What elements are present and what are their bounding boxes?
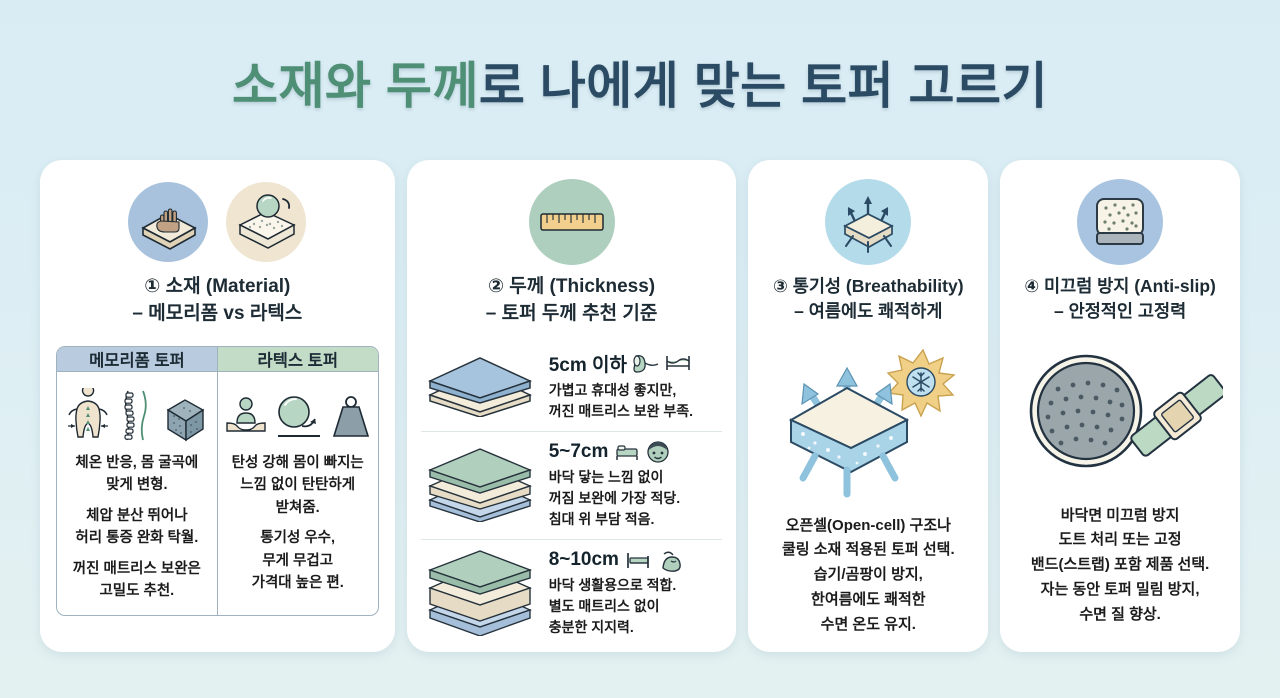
memoryfoam-para-1: 체온 반응, 몸 굴곡에 맞게 변형. — [73, 452, 201, 497]
thickness-desc-5to7cm: 바닥 닿는 느낌 없이 꺼짐 보완에 가장 적당. 침대 위 부담 적음. — [549, 467, 723, 530]
card-thickness-heading: ② 두께 (Thickness) – 토퍼 두께 추천 기준 — [407, 268, 737, 328]
spine-alignment-icon — [116, 388, 156, 442]
dotted-mattress-icon — [1077, 179, 1163, 265]
card-antislip[interactable]: ④ 미끄럼 방지 (Anti-slip) – 안정적인 고정력 — [1000, 160, 1240, 652]
body-contour-icon — [66, 388, 110, 442]
flexed-arm-icon — [659, 548, 685, 572]
thickness-desc-8to10cm: 바닥 생활용으로 적합. 별도 매트리스 없이 충분한 지지력. — [549, 575, 723, 638]
bed-icon — [614, 441, 640, 463]
nonslip-pad-and-strap-icon — [1000, 334, 1240, 504]
thickness-stack-2layer — [421, 355, 539, 417]
latex-para-2: 통기성 우수, 무게 무겁고 가격대 높은 편. — [232, 527, 364, 594]
latex-para-1: 탄성 강해 몸이 빠지는 느낌 없이 탄탄하게 받쳐줌. — [232, 452, 364, 519]
thickness-label-8to10cm: 8~10cm — [549, 548, 723, 572]
card-antislip-heading-line1: ④ 미끄럼 방지 (Anti-slip) — [1006, 274, 1234, 299]
thickness-body-5cm: 5cm 이하 가볍고 휴대 — [549, 350, 723, 422]
table-body: 체온 반응, 몸 굴곡에 맞게 변형. 체압 분산 뛰어나 허리 통증 완화 탁… — [57, 372, 378, 616]
card-material[interactable]: ① 소재 (Material) – 메모리폼 vs 라텍스 메모리폼 토퍼 라텍… — [40, 160, 395, 652]
ruler-icon — [529, 179, 615, 265]
thickness-label-5cm: 5cm 이하 — [549, 350, 723, 377]
thickness-stack-3layer-thin — [421, 448, 539, 522]
card-material-heading-line2: – 메모리폼 vs 라텍스 — [46, 301, 389, 328]
rolled-mat-icon — [633, 352, 659, 374]
card-material-heading-line1: ① 소재 (Material) — [46, 274, 389, 301]
card-breathability-heading: ③ 통기성 (Breathability) – 여름에도 쾌적하게 — [748, 268, 988, 324]
foam-cube-icon — [162, 394, 208, 442]
bouncing-ball-icon — [274, 392, 324, 442]
hand-press-foam-icon — [128, 182, 208, 262]
card-antislip-icons — [1000, 160, 1240, 268]
page-title: 소재와 두께로 나에게 맞는 토퍼 고르기 — [0, 46, 1280, 118]
card-breathability-heading-line1: ③ 통기성 (Breathability) — [754, 274, 982, 299]
memoryfoam-para-3: 꺼진 매트리스 보완은 고밀도 추천. — [73, 558, 201, 603]
page-title-highlight: 소재와 두께 — [232, 58, 479, 114]
table-header-row: 메모리폼 토퍼 라텍스 토퍼 — [57, 347, 378, 372]
card-thickness-heading-line1: ② 두께 (Thickness) — [413, 274, 731, 301]
thickness-label-5to7cm: 5~7cm — [549, 440, 723, 464]
thickness-stack-3layer-thick — [421, 550, 539, 636]
thickness-row-5to7cm[interactable]: 5~7cm — [421, 431, 723, 539]
thickness-body-5to7cm: 5~7cm — [549, 440, 723, 530]
thickness-label-text-5to7cm: 5~7cm — [549, 441, 609, 463]
thickness-row-5cm[interactable]: 5cm 이하 가볍고 휴대 — [421, 342, 723, 431]
card-breathability[interactable]: ③ 통기성 (Breathability) – 여름에도 쾌적하게 — [748, 160, 988, 652]
table-col-memoryfoam: 체온 반응, 몸 굴곡에 맞게 변형. 체압 분산 뛰어나 허리 통증 완화 탁… — [57, 372, 217, 616]
infographic-page: 소재와 두께로 나에게 맞는 토퍼 고르기 — [0, 0, 1280, 698]
thickness-row-8to10cm[interactable]: 8~10cm — [421, 539, 723, 647]
corner-watermark-icon — [1192, 618, 1226, 644]
thickness-list: 5cm 이하 가볍고 휴대 — [421, 342, 723, 647]
latex-icon-row — [224, 380, 372, 442]
table-header-latex: 라텍스 토퍼 — [217, 347, 378, 372]
card-breathability-heading-line2: – 여름에도 쾌적하게 — [754, 299, 982, 324]
bed-frame-icon — [625, 549, 653, 571]
memoryfoam-para-2: 체압 분산 뛰어나 허리 통증 완화 탁월. — [73, 505, 201, 550]
memoryfoam-icon-row — [66, 380, 208, 442]
thickness-label-text-8to10cm: 8~10cm — [549, 549, 619, 571]
thickness-body-8to10cm: 8~10cm — [549, 548, 723, 638]
latex-description: 탄성 강해 몸이 빠지는 느낌 없이 탄탄하게 받쳐줌. 통기성 우수, 무게 … — [232, 452, 364, 603]
table-col-latex: 탄성 강해 몸이 빠지는 느낌 없이 탄탄하게 받쳐줌. 통기성 우수, 무게 … — [217, 372, 378, 616]
smiling-face-icon — [646, 440, 670, 464]
memoryfoam-description: 체온 반응, 몸 굴곡에 맞게 변형. 체압 분산 뛰어나 허리 통증 완화 탁… — [73, 452, 201, 611]
card-antislip-body: 바닥면 미끄럼 방지 도트 처리 또는 고정 밴드(스트랩) 포함 제품 선택.… — [1000, 504, 1240, 628]
card-breathability-body: 오픈셀(Open-cell) 구조나 쿨링 소재 적용된 토퍼 선택. 습기/곰… — [748, 514, 988, 638]
card-antislip-heading: ④ 미끄럼 방지 (Anti-slip) – 안정적인 고정력 — [1000, 268, 1240, 324]
card-thickness-heading-line2: – 토퍼 두께 추천 기준 — [413, 301, 731, 328]
cooling-airflow-block-icon — [748, 334, 988, 514]
thickness-desc-5cm: 가볍고 휴대성 좋지만, 꺼진 매트리스 보완 부족. — [549, 380, 723, 422]
card-thickness-icons — [407, 160, 737, 268]
thickness-label-text-5cm: 5cm 이하 — [549, 350, 627, 377]
table-header-memoryfoam: 메모리폼 토퍼 — [57, 347, 217, 372]
airflow-mattress-icon — [825, 179, 911, 265]
card-material-heading: ① 소재 (Material) – 메모리폼 vs 라텍스 — [40, 268, 395, 328]
material-comparison-table: 메모리폼 토퍼 라텍스 토퍼 — [56, 346, 379, 616]
card-thickness[interactable]: ② 두께 (Thickness) – 토퍼 두께 추천 기준 — [407, 160, 737, 652]
ball-bounce-latex-icon — [226, 182, 306, 262]
page-title-rest: 로 나에게 맞는 토퍼 고르기 — [479, 58, 1048, 114]
card-breathability-icons — [748, 160, 988, 268]
folding-bed-icon — [665, 352, 691, 374]
card-container: ① 소재 (Material) – 메모리폼 vs 라텍스 메모리폼 토퍼 라텍… — [40, 160, 1240, 652]
card-material-icons — [40, 160, 395, 268]
card-antislip-heading-line2: – 안정적인 고정력 — [1006, 299, 1234, 324]
weight-icon — [330, 392, 372, 442]
person-on-firm-surface-icon — [224, 392, 268, 442]
